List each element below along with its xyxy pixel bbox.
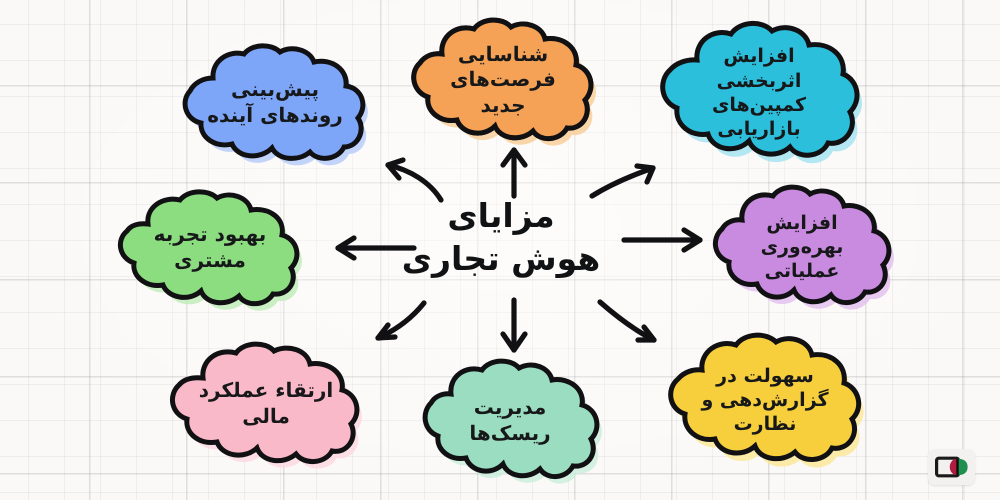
center-title: مزایای هوش تجاری xyxy=(376,192,626,284)
cloud-label-financial-performance: ارتقاء عملکرد مالی xyxy=(158,340,374,468)
cloud-label-identify-opportunities: شناسایی فرصت‌های جدید xyxy=(400,14,606,146)
cloud-financial-performance[interactable]: ارتقاء عملکرد مالی xyxy=(158,340,374,468)
cloud-marketing-effectiveness[interactable]: افزایش اثربخشی کمپین‌های بازاریابی xyxy=(650,18,868,168)
arrow-down-right xyxy=(600,302,654,340)
arrow-right xyxy=(624,230,700,250)
cloud-risk-management[interactable]: مدیریت ریسک‌ها xyxy=(410,356,610,486)
cloud-label-operational-productivity: افزایش بهره‌وری عملیاتی xyxy=(700,182,904,312)
arrow-up xyxy=(503,150,525,196)
cloud-label-reporting-monitoring: سهولت در گزارش‌دهی و نظارت xyxy=(658,330,872,470)
cloud-label-forecast-trends: پیش‌بینی روندهای آینده xyxy=(168,42,382,164)
cloud-label-risk-management: مدیریت ریسک‌ها xyxy=(410,356,610,486)
logo-mark-icon xyxy=(935,456,969,478)
cloud-customer-experience[interactable]: بهبود تجربه مشتری xyxy=(104,188,316,308)
infographic-canvas: پیش‌بینی روندهای آینده شناسایی فرصت‌های … xyxy=(0,0,1000,500)
arrow-down-left xyxy=(378,303,424,338)
arrow-down xyxy=(503,300,525,350)
cloud-label-marketing-effectiveness: افزایش اثربخشی کمپین‌های بازاریابی xyxy=(650,18,868,168)
watermark-logo[interactable] xyxy=(928,449,975,485)
cloud-operational-productivity[interactable]: افزایش بهره‌وری عملیاتی xyxy=(700,182,904,312)
cloud-reporting-monitoring[interactable]: سهولت در گزارش‌دهی و نظارت xyxy=(658,330,872,470)
cloud-label-customer-experience: بهبود تجربه مشتری xyxy=(104,188,316,308)
cloud-forecast-trends[interactable]: پیش‌بینی روندهای آینده xyxy=(168,42,382,164)
cloud-identify-opportunities[interactable]: شناسایی فرصت‌های جدید xyxy=(400,14,606,146)
